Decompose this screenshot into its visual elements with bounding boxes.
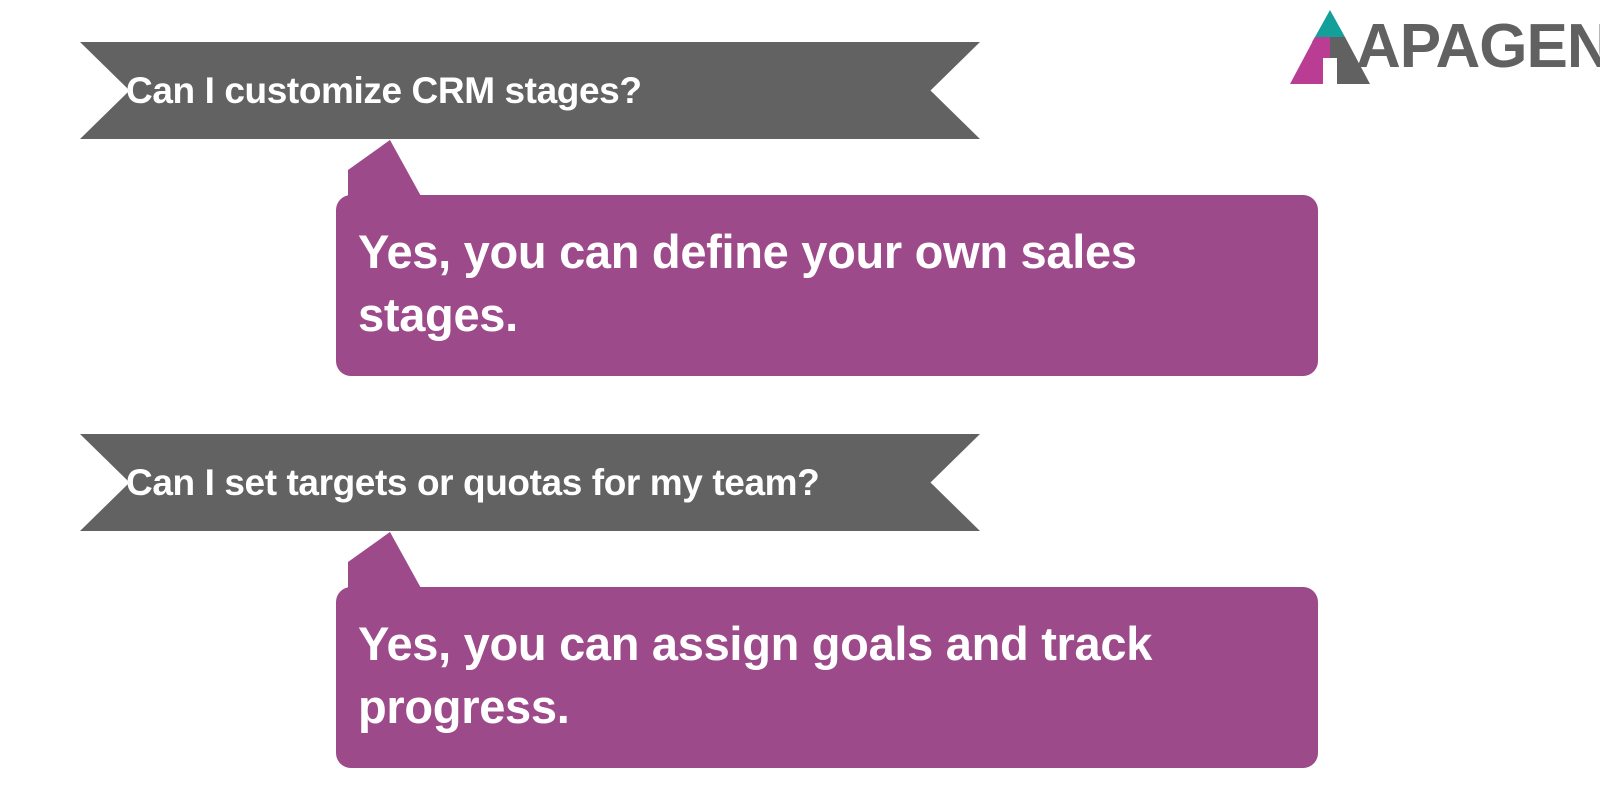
question-banner: Can I customize CRM stages? — [80, 42, 980, 139]
question-banner: Can I set targets or quotas for my team? — [80, 434, 980, 531]
brand-wordmark: APAGEN — [1356, 16, 1600, 78]
brand-logo: APAGEN — [1288, 4, 1588, 90]
answer-bubble: Yes, you can assign goals and track prog… — [336, 587, 1318, 768]
question-text: Can I set targets or quotas for my team? — [126, 462, 819, 504]
faq-graphic-canvas: APAGEN Can I customize CRM stages? Yes, … — [0, 0, 1600, 800]
answer-bubble: Yes, you can define your own sales stage… — [336, 195, 1318, 376]
answer-text: Yes, you can assign goals and track prog… — [358, 613, 1278, 738]
question-text: Can I customize CRM stages? — [126, 70, 642, 112]
answer-text: Yes, you can define your own sales stage… — [358, 221, 1278, 346]
